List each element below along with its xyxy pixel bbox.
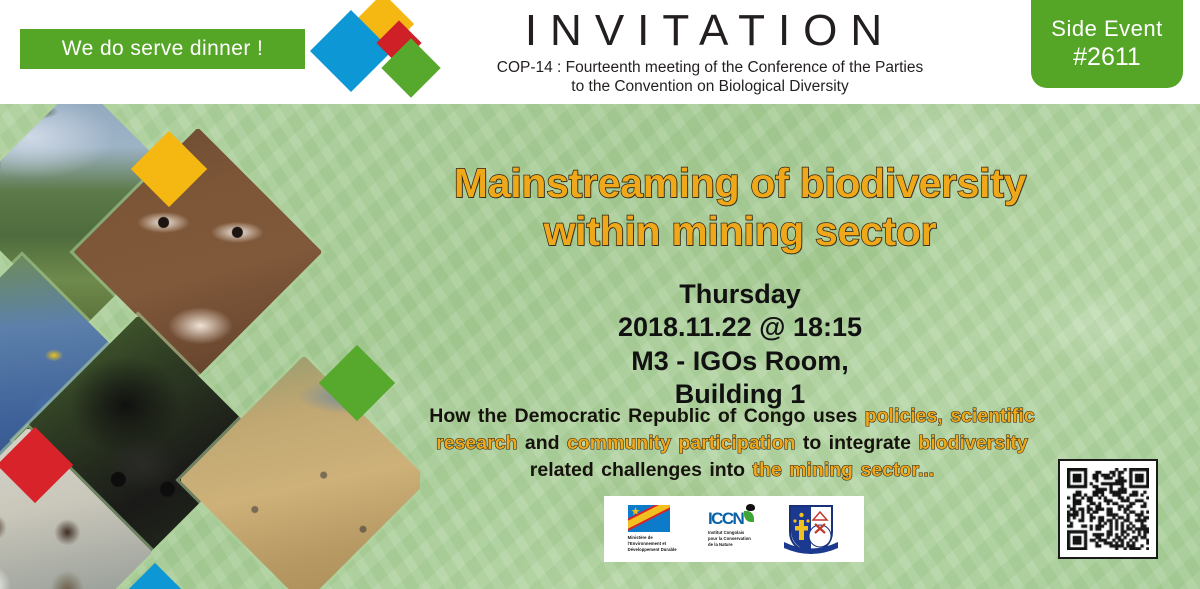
cbd-diamonds-logo (317, 2, 435, 100)
page-title-line1: Mainstreaming of biodiversity (400, 160, 1080, 208)
invitation-heading: INVITATION (460, 6, 960, 56)
invitation-poster: Mainstreaming of biodiversity within min… (0, 0, 1200, 589)
leaf-icon (744, 511, 754, 522)
header: We do serve dinner ! INVITATION COP-14 :… (0, 0, 1200, 104)
description-segment-1: How the Democratic Republic of Congo use… (429, 405, 864, 427)
dinner-banner-label: We do serve dinner ! (62, 37, 263, 61)
ministere-caption-line3: Développement Durable (628, 547, 677, 553)
bird-icon (746, 504, 755, 511)
conference-subtitle-line2: to the Convention on Biological Diversit… (440, 77, 980, 96)
photo-mosaic (0, 104, 420, 589)
dinner-banner: We do serve dinner ! (20, 29, 305, 69)
qr-code[interactable] (1058, 459, 1158, 559)
side-event-number: #2611 (1073, 43, 1141, 72)
event-datetime: 2018.11.22 @ 18:15 (470, 311, 1010, 344)
description-highlight-policies: policies, (865, 405, 943, 427)
iccn-wordmark: ICCN (708, 510, 743, 527)
page-title-line2: within mining sector (400, 208, 1080, 256)
page-title: Mainstreaming of biodiversity within min… (400, 160, 1080, 255)
description-segment-3: and (517, 432, 567, 454)
ministere-caption: Ministère de l'Environnement et Développ… (628, 535, 677, 554)
iccn-caption: Institut Congolais pour la Conservation … (708, 530, 751, 549)
description-highlight-mining-sector: the mining sector... (753, 459, 935, 481)
conference-subtitle: COP-14 : Fourteenth meeting of the Confe… (440, 58, 980, 97)
ministere-environnement-logo: ★ Ministère de l'Environnement et Dévelo… (628, 505, 677, 554)
partner-logos: ★ Ministère de l'Environnement et Dévelo… (604, 496, 864, 562)
side-event-label: Side Event (1051, 16, 1162, 42)
event-description: How the Democratic Republic of Congo use… (402, 403, 1062, 484)
iccn-logo: ICCN Institut Congolais pour la Conserva… (708, 510, 751, 549)
conference-subtitle-line1: COP-14 : Fourteenth meeting of the Confe… (440, 58, 980, 77)
side-event-badge: Side Event #2611 (1031, 0, 1183, 88)
event-day: Thursday (470, 278, 1010, 311)
description-highlight-community-participation: community participation (567, 432, 795, 454)
description-highlight-biodiversity: biodiversity (918, 432, 1027, 454)
university-crest-logo (782, 502, 840, 556)
event-details: Thursday 2018.11.22 @ 18:15 M3 - IGOs Ro… (470, 278, 1010, 412)
description-segment-4: to integrate (795, 432, 918, 454)
iccn-caption-line3: de la Nature (708, 542, 751, 548)
event-room: M3 - IGOs Room, (470, 345, 1010, 378)
iccn-mark-text: ICCN (708, 509, 743, 528)
drc-flag-icon: ★ (628, 505, 670, 532)
description-segment-5: related challenges into (530, 459, 753, 481)
qr-code-canvas (1067, 468, 1149, 550)
